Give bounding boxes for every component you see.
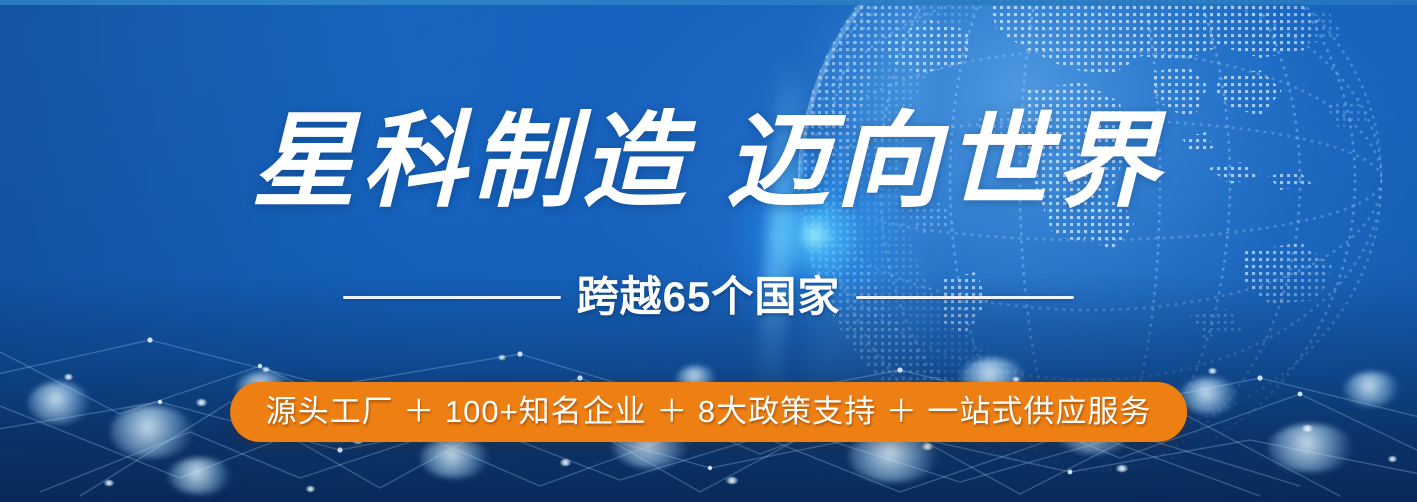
divider-line-right [856, 296, 1074, 299]
promo-banner: 星科制造迈向世界 跨越65个国家 源头工厂 ＋ 100+知名企业 ＋ 8大政策支… [0, 0, 1417, 502]
banner-subtitle: 跨越65个国家 [577, 271, 841, 323]
divider-line-left [343, 296, 561, 299]
headline-part-1: 星科制造 [251, 105, 691, 220]
headline-part-2: 迈向世界 [726, 105, 1166, 220]
cta-pill-button[interactable]: 源头工厂 ＋ 100+知名企业 ＋ 8大政策支持 ＋ 一站式供应服务 [230, 382, 1188, 442]
cta-pill-label: 源头工厂 ＋ 100+知名企业 ＋ 8大政策支持 ＋ 一站式供应服务 [266, 393, 1152, 431]
banner-headline: 星科制造迈向世界 [0, 104, 1417, 222]
subtitle-row: 跨越65个国家 [0, 268, 1417, 326]
banner-content: 星科制造迈向世界 跨越65个国家 源头工厂 ＋ 100+知名企业 ＋ 8大政策支… [0, 0, 1417, 502]
